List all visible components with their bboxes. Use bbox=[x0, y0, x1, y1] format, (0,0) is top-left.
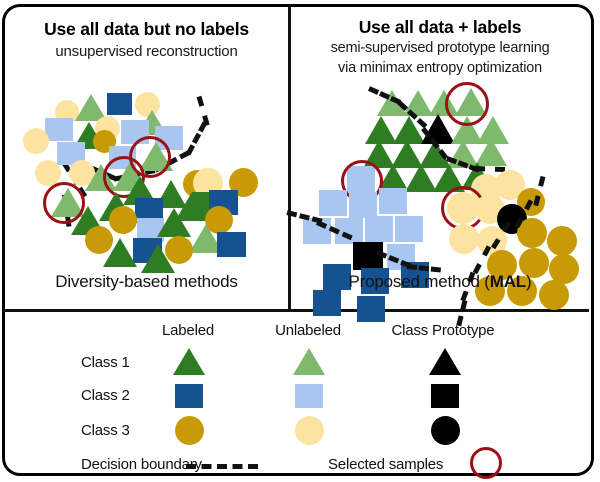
data-point bbox=[103, 238, 137, 267]
scatter-right bbox=[291, 78, 589, 278]
panel-right-caption-suffix: ) bbox=[526, 272, 531, 291]
data-point bbox=[365, 216, 393, 242]
data-point bbox=[141, 244, 175, 273]
panel-right-header: Use all data + labels semi-supervised pr… bbox=[291, 16, 589, 78]
panel-right: Use all data + labels semi-supervised pr… bbox=[291, 6, 589, 309]
data-point bbox=[449, 224, 479, 254]
legend-swatch-class3-prototype bbox=[431, 416, 460, 445]
selected-sample-ring bbox=[129, 136, 171, 178]
data-point bbox=[45, 118, 73, 141]
legend-swatch-class1-unlabeled bbox=[293, 348, 325, 375]
panel-right-title: Use all data + labels bbox=[291, 16, 589, 38]
panel-left-title: Use all data but no labels bbox=[5, 18, 288, 40]
data-point bbox=[319, 190, 347, 216]
decision-boundary-right-c1-seg5 bbox=[475, 166, 505, 172]
panel-left-caption-text: Diversity-based methods bbox=[55, 272, 237, 291]
figure-root: Use all data but no labels unsupervised … bbox=[0, 0, 600, 482]
panel-right-caption: Proposed method (MAL) bbox=[291, 272, 589, 292]
legend-swatch-class1-prototype bbox=[429, 348, 461, 375]
legend-row-label-class-2: Class 2 bbox=[81, 387, 130, 404]
data-point bbox=[349, 192, 377, 218]
data-point bbox=[547, 226, 577, 256]
data-point bbox=[109, 206, 137, 234]
data-point bbox=[107, 93, 132, 115]
legend: Labeled Unlabeled Class Prototype Class … bbox=[3, 312, 589, 476]
legend-swatch-class3-labeled bbox=[175, 416, 204, 445]
panel-left-subtitle: unsupervised reconstruction bbox=[5, 42, 288, 62]
legend-swatch-class1-labeled bbox=[173, 348, 205, 375]
panel-right-caption-prefix: Proposed method ( bbox=[349, 272, 490, 291]
legend-selected-samples-label: Selected samples bbox=[328, 456, 443, 473]
legend-swatch-class3-unlabeled bbox=[295, 416, 324, 445]
legend-decision-boundary-label: Decision boundary bbox=[81, 456, 202, 473]
legend-column-header-labeled: Labeled bbox=[133, 322, 243, 339]
legend-swatch-class2-labeled bbox=[175, 384, 203, 408]
data-point bbox=[217, 232, 246, 257]
legend-column-header-unlabeled: Unlabeled bbox=[253, 322, 363, 339]
panel-right-subtitle-line2: via minimax entropy optimization bbox=[291, 59, 589, 78]
legend-decision-boundary-swatch bbox=[186, 464, 258, 469]
legend-row-label-class-3: Class 3 bbox=[81, 422, 130, 439]
legend-column-header-prototype: Class Prototype bbox=[373, 322, 513, 339]
data-point bbox=[395, 216, 423, 242]
panel-left-caption: Diversity-based methods bbox=[5, 272, 288, 292]
selected-sample-ring bbox=[445, 82, 489, 126]
panel-left-header: Use all data but no labels unsupervised … bbox=[5, 18, 288, 62]
legend-selected-samples-swatch bbox=[470, 447, 502, 479]
panel-right-subtitle-line1: semi-supervised prototype learning bbox=[291, 39, 589, 58]
data-point bbox=[23, 128, 49, 154]
legend-swatch-class2-unlabeled bbox=[295, 384, 323, 408]
panel-right-caption-bold: MAL bbox=[490, 272, 526, 291]
decision-boundary-left-seg2 bbox=[186, 121, 207, 155]
scatter-left bbox=[7, 84, 288, 274]
legend-swatch-class2-prototype bbox=[431, 384, 459, 408]
data-point bbox=[379, 188, 407, 214]
legend-row-label-class-1: Class 1 bbox=[81, 354, 130, 371]
data-point bbox=[157, 208, 191, 237]
panel-left: Use all data but no labels unsupervised … bbox=[5, 6, 288, 309]
